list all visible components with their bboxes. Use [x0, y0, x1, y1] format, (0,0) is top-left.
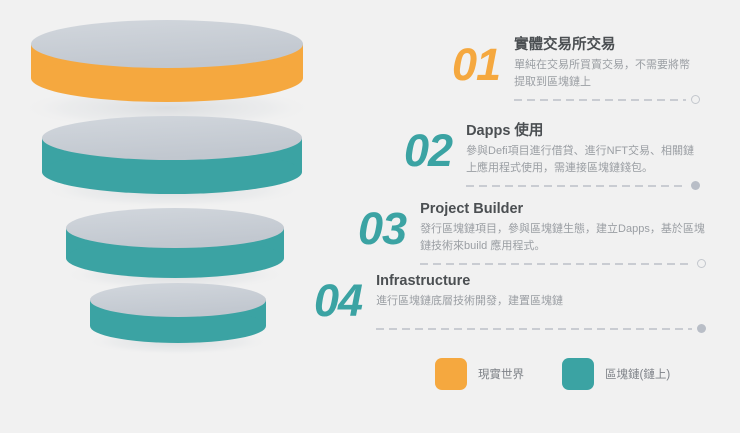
- step-number-04: 04: [314, 272, 362, 323]
- step-title-04: Infrastructure: [376, 272, 706, 290]
- step-number-01: 01: [452, 36, 500, 87]
- step-number-02: 02: [404, 122, 452, 173]
- step-item-01[interactable]: 01 實體交易所交易 單純在交易所買賣交易，不需要將幣提取到區塊鏈上: [452, 36, 700, 105]
- legend-label-real-world: 現實世界: [467, 366, 524, 382]
- step-divider-02: [466, 181, 700, 191]
- step-description-04: 進行區塊鏈底層技術開發，建置區塊鏈: [376, 293, 706, 310]
- step-content-01: 實體交易所交易 單純在交易所買賣交易，不需要將幣提取到區塊鏈上: [500, 36, 700, 105]
- legend-item-real-world: 現實世界: [435, 358, 524, 390]
- step-item-04[interactable]: 04 Infrastructure 進行區塊鏈底層技術開發，建置區塊鏈: [314, 272, 706, 334]
- infographic-canvas: 01 實體交易所交易 單純在交易所買賣交易，不需要將幣提取到區塊鏈上 02 Da…: [0, 0, 740, 433]
- step-content-03: Project Builder 發行區塊鏈項目，參與區塊鏈生態，建立Dapps，…: [406, 200, 706, 269]
- step-divider-01: [514, 95, 700, 105]
- steps-list: 01 實體交易所交易 單純在交易所買賣交易，不需要將幣提取到區塊鏈上 02 Da…: [0, 0, 740, 360]
- step-description-01: 單純在交易所買賣交易，不需要將幣提取到區塊鏈上: [514, 57, 700, 91]
- legend-swatch-orange: [435, 358, 467, 390]
- step-item-03[interactable]: 03 Project Builder 發行區塊鏈項目，參與區塊鏈生態，建立Dap…: [358, 200, 706, 269]
- legend-item-blockchain: 區塊鏈(鏈上): [562, 358, 670, 390]
- step-content-04: Infrastructure 進行區塊鏈底層技術開發，建置區塊鏈: [362, 272, 706, 334]
- legend-swatch-teal: [562, 358, 594, 390]
- legend: 現實世界 區塊鏈(鏈上): [435, 358, 670, 390]
- endpoint-dot-icon: [691, 95, 700, 104]
- step-item-02[interactable]: 02 Dapps 使用 參與Defi項目進行借貸、進行NFT交易、相關鏈上應用程…: [404, 122, 700, 191]
- step-number-03: 03: [358, 200, 406, 251]
- dashed-line-icon: [514, 99, 686, 101]
- step-description-03: 發行區塊鏈項目，參與區塊鏈生態，建立Dapps，基於區塊鏈技術來build 應用…: [420, 221, 706, 255]
- endpoint-dot-icon: [697, 259, 706, 268]
- dashed-line-icon: [420, 263, 692, 265]
- legend-label-blockchain: 區塊鏈(鏈上): [594, 366, 670, 382]
- step-divider-03: [420, 259, 706, 269]
- step-title-03: Project Builder: [420, 200, 706, 218]
- step-divider-04: [376, 324, 706, 334]
- dashed-line-icon: [466, 185, 686, 187]
- step-content-02: Dapps 使用 參與Defi項目進行借貸、進行NFT交易、相關鏈上應用程式使用…: [452, 122, 700, 191]
- endpoint-dot-icon: [691, 181, 700, 190]
- step-description-02: 參與Defi項目進行借貸、進行NFT交易、相關鏈上應用程式使用，需連接區塊鏈錢包…: [466, 143, 700, 177]
- step-title-02: Dapps 使用: [466, 122, 700, 140]
- dashed-line-icon: [376, 328, 692, 330]
- step-title-01: 實體交易所交易: [514, 36, 700, 54]
- endpoint-dot-icon: [697, 324, 706, 333]
